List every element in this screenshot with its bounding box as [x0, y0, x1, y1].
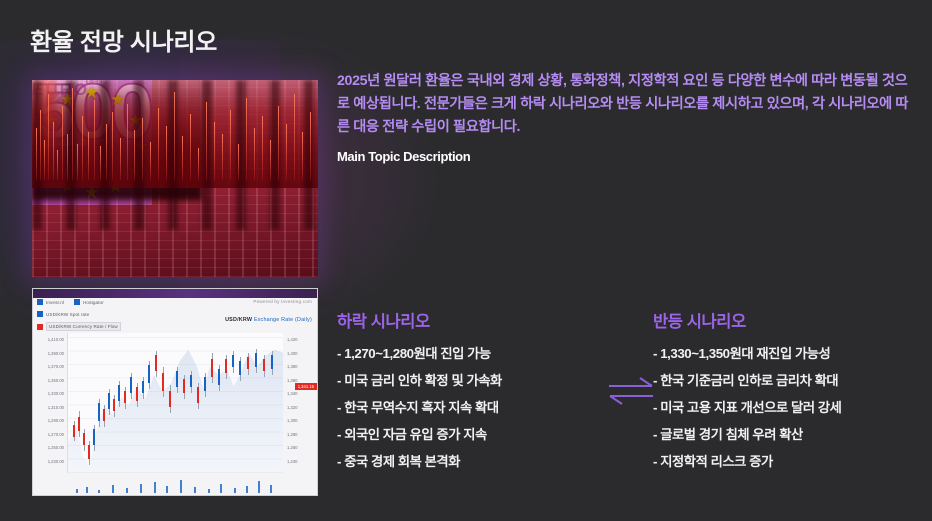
scenario-rebound: 반등 시나리오 - 1,330~1,350원대 재진입 가능성 - 한국 기준금… [653, 308, 923, 482]
y-tick: 1,400 [287, 347, 317, 361]
list-item: - 1,330~1,350원대 재진입 가능성 [653, 347, 923, 361]
y-tick: 1,250.00 [33, 441, 64, 455]
legend-label: Hostgator [83, 300, 104, 305]
y-tick: 1,330.00 [33, 387, 64, 401]
legend-label: Invest.nl [46, 300, 64, 305]
legend-swatch-icon [37, 324, 43, 330]
scenario-decline-list: - 1,270~1,280원대 진입 가능 - 미국 금리 인하 확정 및 가속… [337, 347, 602, 469]
chart-legend-row-3: USD/KRW Currency Rate / Flow [37, 322, 121, 331]
list-item: - 미국 고용 지표 개선으로 달러 강세 [653, 401, 923, 415]
y-tick: 1,320 [287, 401, 317, 415]
y-tick: 1,420 [287, 333, 317, 347]
y-tick: 1,300 [287, 414, 317, 428]
chart-window-topbar [33, 289, 317, 298]
chart-y-axis-right: 1,420 1,400 1,380 1,360 1,340 1,320 1,30… [284, 333, 317, 473]
y-tick: 1,350.00 [33, 374, 64, 388]
chart-symbol-label: USD/KRW Exchange Rate (Daily) [225, 317, 312, 323]
y-tick: 1,370.00 [33, 360, 64, 374]
chart-last-price-badge: 1,341.15 [295, 383, 317, 390]
y-tick: 1,290.00 [33, 414, 64, 428]
main-topic-label: Main Topic Description [337, 149, 470, 164]
scenario-rebound-list: - 1,330~1,350원대 재진입 가능성 - 한국 기준금리 인하로 금리… [653, 347, 923, 469]
y-tick: 1,230.00 [33, 455, 64, 469]
list-item: - 한국 기준금리 인하로 금리차 확대 [653, 374, 923, 388]
legend-swatch-icon [37, 299, 43, 305]
chart-symbol: USD/KRW [225, 317, 252, 323]
chart-plot-area [67, 333, 283, 473]
legend-entry: Invest.nl [37, 299, 64, 305]
y-tick: 1,310.00 [33, 401, 64, 415]
page-title: 환율 전망 시나리오 [30, 22, 217, 57]
legend-entry: Hostgator [74, 299, 104, 305]
list-item: - 미국 금리 인하 확정 및 가속화 [337, 374, 602, 388]
y-tick: 1,390.00 [33, 347, 64, 361]
legend-label: USD/KRW Currency Rate / Flow [46, 322, 121, 331]
y-tick: 1,240 [287, 455, 317, 469]
legend-swatch-icon [74, 299, 80, 305]
list-item: - 중국 경제 회복 본격화 [337, 455, 602, 469]
list-item: - 1,270~1,280원대 진입 가능 [337, 347, 602, 361]
y-tick: 1,410.00 [33, 333, 64, 347]
chart-y-axis-left: 1,410.00 1,390.00 1,370.00 1,350.00 1,33… [33, 333, 66, 473]
list-item: - 한국 무역수지 흑자 지속 확대 [337, 401, 602, 415]
equilibrium-arrows-icon [608, 375, 654, 407]
main-description: 2025년 원달러 환율은 국내외 경제 상황, 통화정책, 지정학적 요인 등… [337, 70, 912, 139]
chart-legend-row-1: Invest.nl Hostgator [37, 299, 104, 305]
scenario-rebound-title: 반등 시나리오 [653, 308, 923, 332]
chart-candles [68, 333, 283, 473]
euro-banknote-image: 50 BCE ECB EZB EKT EKP 500 500 EURO ★ ★ … [32, 80, 318, 277]
legend-swatch-icon [37, 311, 43, 317]
chart-legend-row-2: USD/KRW Spot rate [37, 311, 89, 317]
chart-attribution: Powered by Investing.com [253, 299, 312, 304]
legend-label: USD/KRW Spot rate [46, 312, 89, 317]
y-tick: 1,270.00 [33, 428, 64, 442]
y-tick: 1,380 [287, 360, 317, 374]
scenario-decline-title: 하락 시나리오 [337, 308, 602, 332]
list-item: - 글로벌 경기 침체 우려 확산 [653, 428, 923, 442]
chart-symbol-sub: Exchange Rate (Daily) [254, 317, 312, 323]
red-chart-spikes [32, 80, 318, 180]
exchange-rate-chart-image: Invest.nl Hostgator USD/KRW Spot rate US… [32, 288, 318, 496]
y-tick: 1,280 [287, 428, 317, 442]
scenario-decline: 하락 시나리오 - 1,270~1,280원대 진입 가능 - 미국 금리 인하… [337, 308, 602, 482]
list-item: - 외국인 자금 유입 증가 지속 [337, 428, 602, 442]
y-tick: 1,260 [287, 441, 317, 455]
list-item: - 지정학적 리스크 증가 [653, 455, 923, 469]
chart-volume-bars [68, 475, 283, 493]
